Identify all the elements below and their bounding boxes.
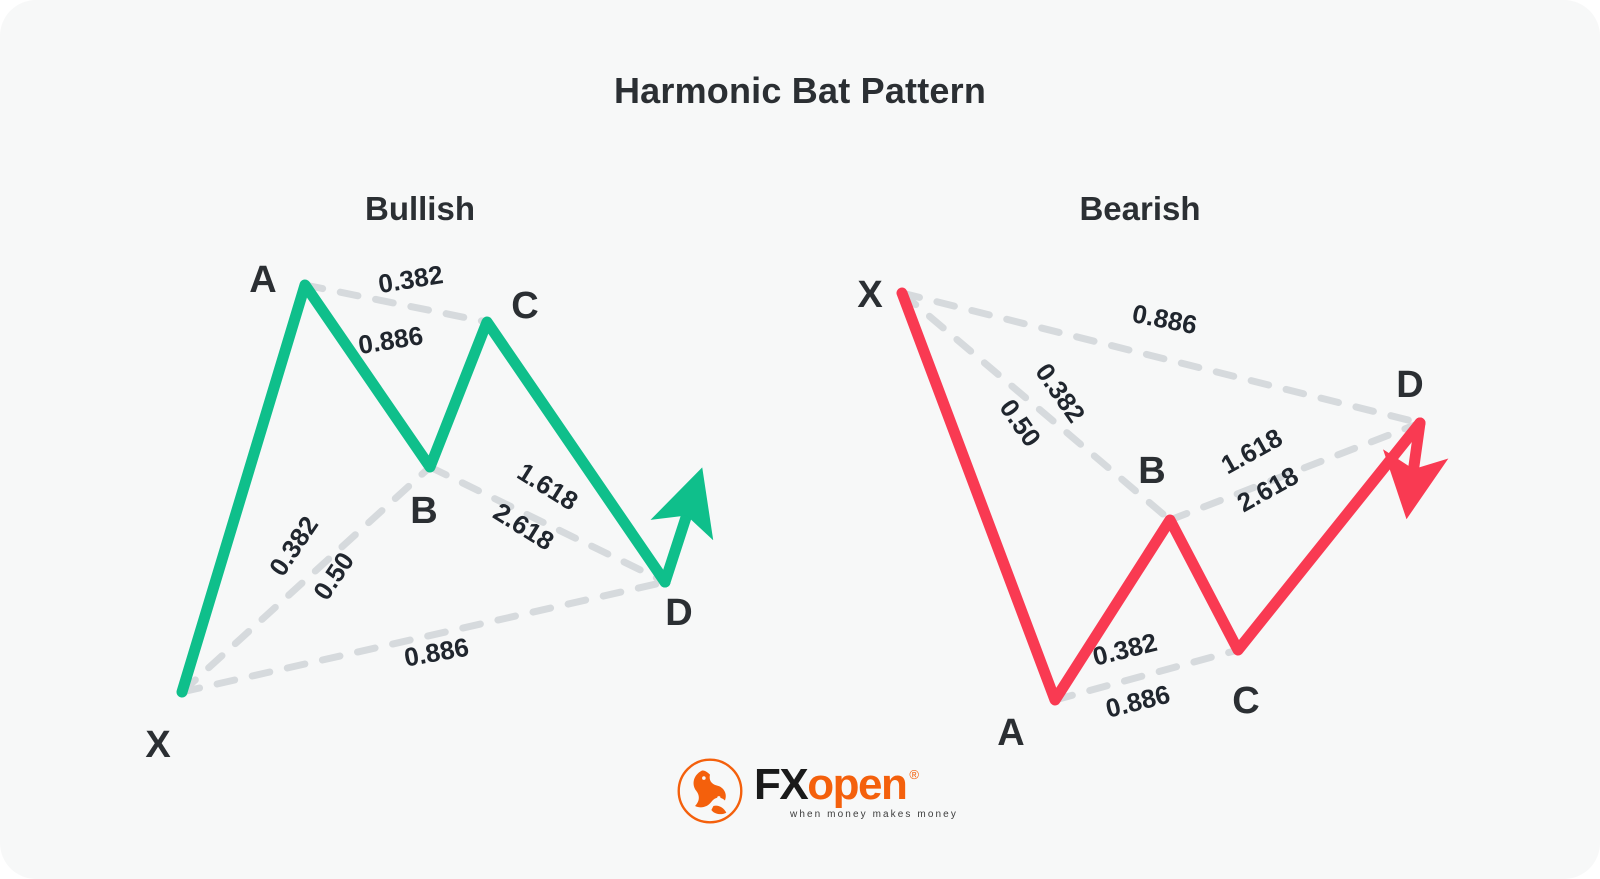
bullish-point-label-b: B (410, 490, 437, 532)
bullish-ratio-bd-2618: 2.618 (488, 496, 559, 556)
bearish-ratio-ac-0886: 0.886 (1103, 679, 1173, 724)
bullish-ratio-xb-050: 0.50 (307, 547, 360, 606)
bullish-point-label-a: A (249, 259, 276, 301)
logo-fx-text: FX (754, 763, 807, 807)
bullish-ratio-ac-0382: 0.382 (376, 259, 445, 299)
bullish-point-label-c: C (511, 285, 538, 327)
bullish-ratio-ac-0886: 0.886 (356, 320, 425, 360)
bullish-direction-arrow (665, 505, 690, 582)
harmonic-pattern-svg: A C B D X 0.382 0.886 0.382 0.50 1.618 2… (0, 0, 1600, 879)
bearish-price-path (902, 293, 1420, 700)
fxopen-squirrel-icon (676, 757, 744, 825)
bearish-point-label-c: C (1232, 680, 1259, 722)
fxopen-name: FX open ® (754, 763, 958, 807)
bearish-point-labels: X D B A C (857, 274, 1423, 754)
bearish-ratio-xb-0382: 0.382 (1029, 358, 1091, 429)
fxopen-logo: FX open ® when money makes money (676, 757, 958, 825)
registered-trademark-icon: ® (909, 768, 917, 781)
logo-open-text: open (807, 763, 906, 807)
bearish-point-label-x: X (857, 274, 883, 316)
bearish-point-label-a: A (997, 712, 1024, 754)
bullish-point-label-x: X (145, 724, 171, 766)
bearish-point-label-d: D (1396, 364, 1423, 406)
bullish-point-label-d: D (665, 592, 692, 634)
bearish-ratio-xb-050: 0.50 (994, 394, 1048, 453)
fxopen-wordmark: FX open ® when money makes money (754, 763, 958, 820)
logo-tagline: when money makes money (790, 809, 958, 820)
bullish-guide-x-d (182, 582, 665, 692)
bearish-ratio-xd-0886: 0.886 (1130, 298, 1200, 340)
bearish-point-label-b: B (1138, 450, 1165, 492)
diagram-canvas: Harmonic Bat Pattern Bullish Bearish (0, 0, 1600, 879)
